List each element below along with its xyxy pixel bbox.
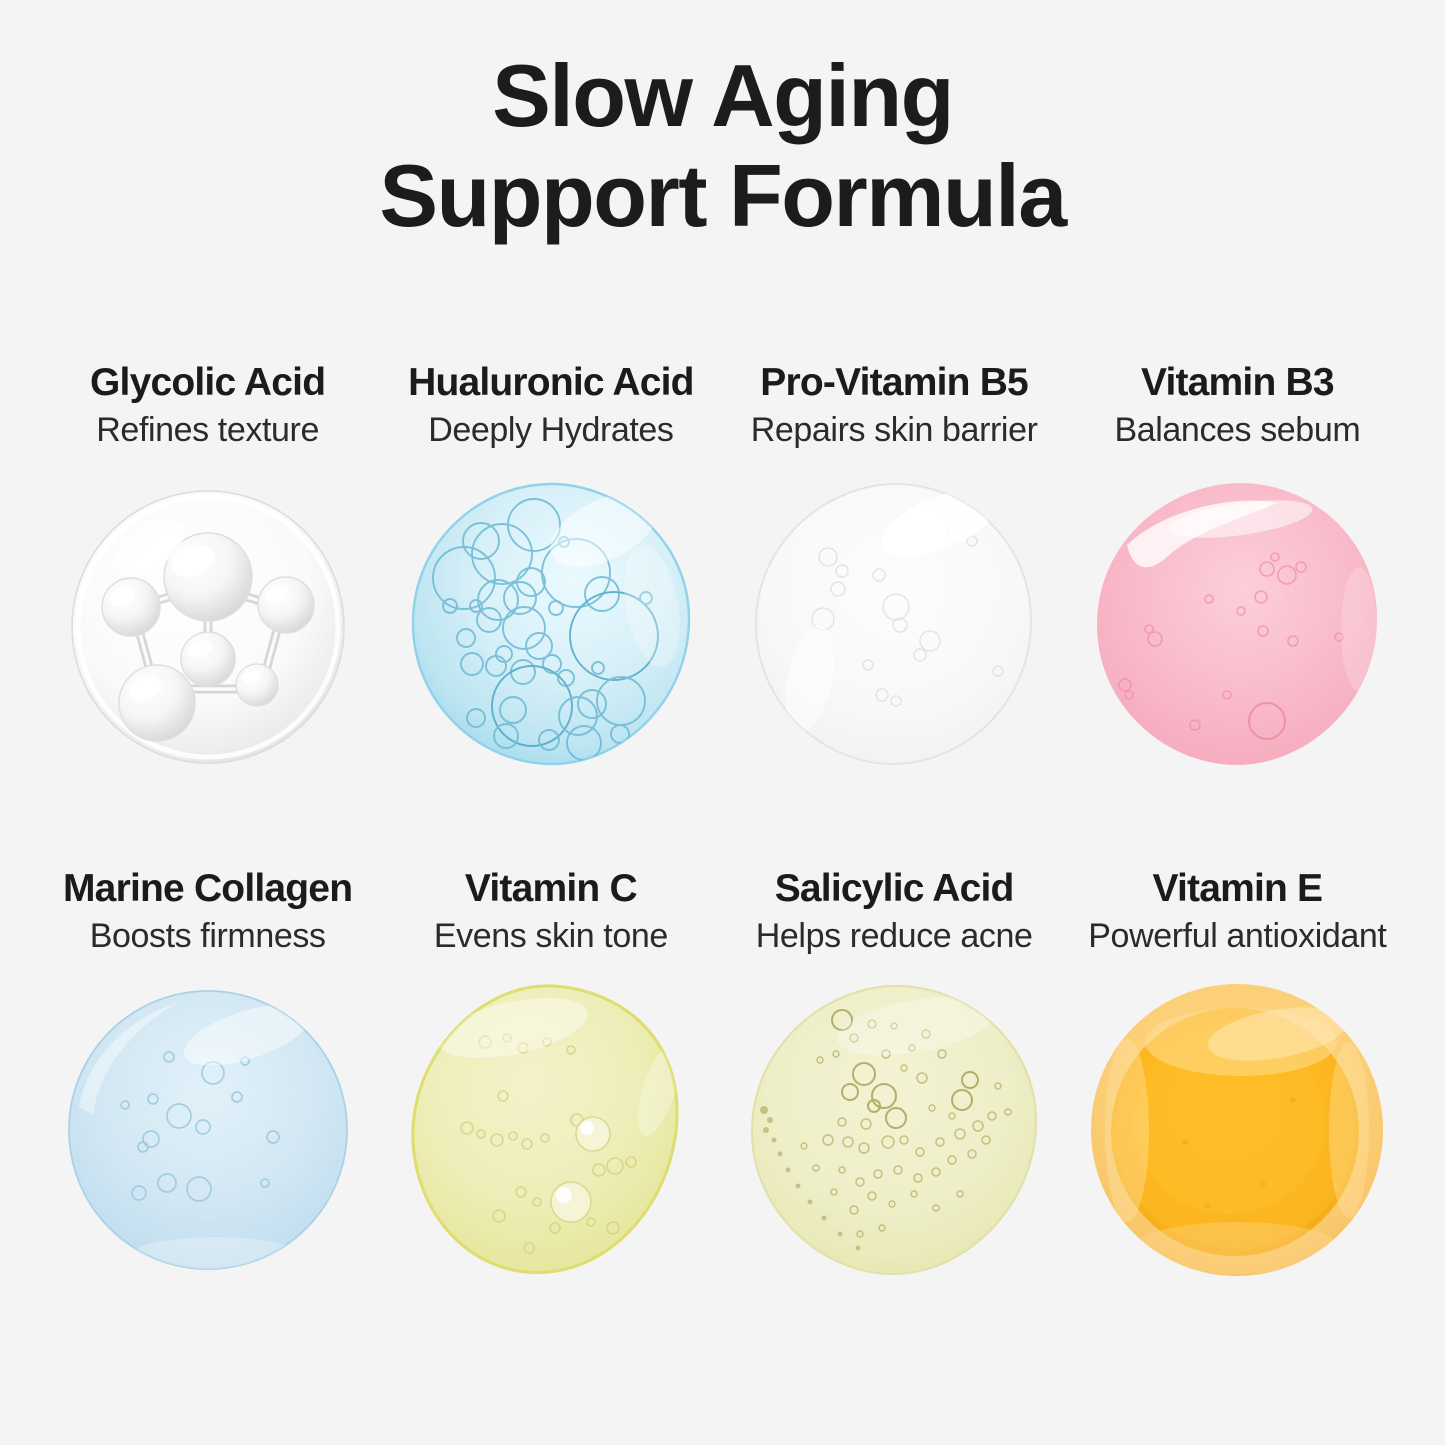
yellow-green-gel-swatch: [734, 980, 1054, 1280]
ingredient-card-vitamin-b3: Vitamin B3 Balances sebum: [1066, 360, 1409, 774]
ingredient-description: Refines texture: [96, 408, 319, 452]
ingredient-card-vitamin-e: Vitamin E Powerful antioxidant: [1066, 866, 1409, 1280]
ingredient-description: Deeply Hydrates: [428, 408, 673, 452]
ingredient-description: Powerful antioxidant: [1088, 914, 1386, 958]
ingredient-name: Glycolic Acid: [90, 360, 325, 406]
page-title: Slow Aging Support Formula: [0, 46, 1445, 246]
ingredient-name: Vitamin B3: [1141, 360, 1334, 406]
ingredient-card-vitamin-c: Vitamin C Evens skin tone: [379, 866, 722, 1280]
ingredient-card-salicylic-acid: Salicylic Acid Helps reduce acne: [723, 866, 1066, 1280]
blue-bubbly-gel-swatch: [391, 474, 711, 774]
ingredient-grid: Glycolic Acid Refines texture: [36, 360, 1409, 1280]
ingredient-card-hualuronic-acid: Hualuronic Acid Deeply Hydrates: [379, 360, 722, 774]
ingredient-description: Repairs skin barrier: [751, 408, 1038, 452]
ingredient-card-pro-vitamin-b5: Pro-Vitamin B5 Repairs skin barrier: [723, 360, 1066, 774]
light-blue-gel-swatch: [48, 980, 368, 1280]
page-title-line-2: Support Formula: [0, 146, 1445, 246]
ingredient-name: Vitamin E: [1152, 866, 1322, 912]
ingredient-description: Balances sebum: [1114, 408, 1360, 452]
ingredient-description: Evens skin tone: [434, 914, 668, 958]
page-title-line-1: Slow Aging: [0, 46, 1445, 146]
pink-gel-swatch: [1077, 474, 1397, 774]
ingredient-description: Helps reduce acne: [756, 914, 1033, 958]
ingredient-name: Pro-Vitamin B5: [760, 360, 1028, 406]
ingredient-infographic: Slow Aging Support Formula Glycolic Acid…: [0, 0, 1445, 1445]
ingredient-card-marine-collagen: Marine Collagen Boosts firmness: [36, 866, 379, 1280]
ingredient-name: Salicylic Acid: [775, 866, 1014, 912]
ingredient-name: Vitamin C: [465, 866, 637, 912]
yellow-serum-swatch: [391, 980, 711, 1280]
ingredient-description: Boosts firmness: [90, 914, 326, 958]
clear-molecule-droplet-swatch: [48, 474, 368, 774]
clear-gel-swatch: [734, 474, 1054, 774]
ingredient-name: Marine Collagen: [63, 866, 352, 912]
orange-oil-swatch: [1077, 980, 1397, 1280]
ingredient-name: Hualuronic Acid: [408, 360, 694, 406]
ingredient-card-glycolic-acid: Glycolic Acid Refines texture: [36, 360, 379, 774]
